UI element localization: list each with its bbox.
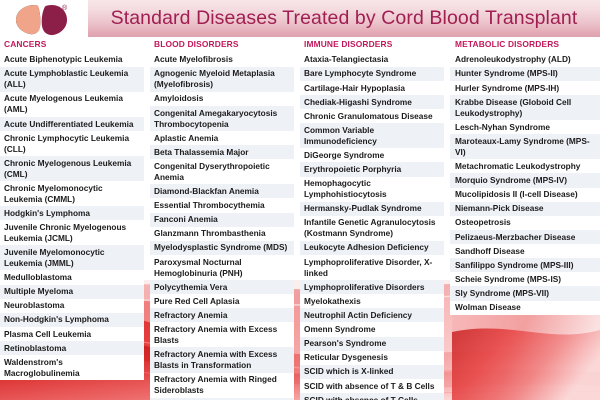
list-item: Infantile Genetic Agranulocytosis (Kostm… xyxy=(300,216,444,241)
list-item: Non-Hodgkin's Lymphoma xyxy=(0,313,144,327)
title-band: Standard Diseases Treated by Cord Blood … xyxy=(88,0,600,37)
list-item: Acute Myelogenous Leukemia (AML) xyxy=(0,92,144,117)
list-item: Chediak-Higashi Syndrome xyxy=(300,95,444,109)
list-item: Omenn Syndrome xyxy=(300,322,444,336)
list-item: Medulloblastoma xyxy=(0,270,144,284)
disease-columns: CANCERS Acute Biphenotypic Leukemia Acut… xyxy=(0,37,600,400)
list-item: Lymphoproliferative Disorder, X-linked xyxy=(300,255,444,280)
list-item: Pelizaeus-Merzbacher Disease xyxy=(450,230,600,244)
list-item: Polycythemia Vera xyxy=(150,280,294,294)
list-item: Glanzmann Thrombasthenia xyxy=(150,227,294,241)
poster-root: ® Standard Diseases Treated by Cord Bloo… xyxy=(0,0,600,400)
list-item: SCID with absence of T & B Cells xyxy=(300,379,444,393)
category-header-metabolic-disorders: METABOLIC DISORDERS xyxy=(450,37,600,53)
list-item: Chronic Granulomatous Disease xyxy=(300,109,444,123)
list-item: Chronic Lymphocytic Leukemia (CLL) xyxy=(0,131,144,156)
list-item: Multiple Myeloma xyxy=(0,285,144,299)
list-item: Neuroblastoma xyxy=(0,299,144,313)
list-item: Ataxia-Telangiectasia xyxy=(300,53,444,67)
list-item: Acute Undifferentiated Leukemia xyxy=(0,117,144,131)
registered-trademark-icon: ® xyxy=(62,5,67,12)
list-item: Morquio Syndrome (MPS-IV) xyxy=(450,173,600,187)
list-item: Myelodysplastic Syndrome (MDS) xyxy=(150,241,294,255)
list-item: Fanconi Anemia xyxy=(150,213,294,227)
list-item: SCID with absence of T Cells, Normal B C… xyxy=(300,393,444,400)
list-item: Hodgkin's Lymphoma xyxy=(0,206,144,220)
list-item: Refractory Anemia with Excess Blasts in … xyxy=(150,347,294,372)
list-item: Agnogenic Myeloid Metaplasia (Myelofibro… xyxy=(150,67,294,92)
list-item: Aplastic Anemia xyxy=(150,131,294,145)
column-blood-disorders: BLOOD DISORDERS Acute Myelofibrosis Agno… xyxy=(150,37,294,400)
column-cancers: CANCERS Acute Biphenotypic Leukemia Acut… xyxy=(0,37,144,380)
list-item: DiGeorge Syndrome xyxy=(300,148,444,162)
list-item: Plasma Cell Leukemia xyxy=(0,327,144,341)
category-header-blood-disorders: BLOOD DISORDERS xyxy=(150,37,294,53)
list-item: Wolman Disease xyxy=(450,301,600,315)
list-item: Acute Biphenotypic Leukemia xyxy=(0,53,144,67)
list-item: Chronic Myelomonocytic Leukemia (CMML) xyxy=(0,181,144,206)
list-item: Hemophagocytic Lymphohistiocytosis xyxy=(300,177,444,202)
list-item: Acute Myelofibrosis xyxy=(150,53,294,67)
disease-list-cancers: Acute Biphenotypic Leukemia Acute Lympho… xyxy=(0,53,144,381)
list-item: Amyloidosis xyxy=(150,92,294,106)
list-item: Lymphoproliferative Disorders xyxy=(300,280,444,294)
category-header-immune-disorders: IMMUNE DISORDERS xyxy=(300,37,444,53)
list-item: Refractory Anemia with Ringed Sideroblas… xyxy=(150,373,294,398)
list-item: Lesch-Nyhan Syndrome xyxy=(450,120,600,134)
list-item: Krabbe Disease (Globoid Cell Leukodystro… xyxy=(450,95,600,120)
list-item: Sanfilippo Syndrome (MPS-III) xyxy=(450,258,600,272)
disease-list-immune-disorders: Ataxia-Telangiectasia Bare Lymphocyte Sy… xyxy=(300,53,444,400)
list-item: Myelokathexis xyxy=(300,294,444,308)
list-item: Niemann-Pick Disease xyxy=(450,202,600,216)
list-item: Common Variable Immunodeficiency xyxy=(300,123,444,148)
list-item: Chronic Myelogenous Leukemia (CML) xyxy=(0,156,144,181)
list-item: Essential Thrombocythemia xyxy=(150,198,294,212)
list-item: Juvenile Myelomonocytic Leukemia (JMML) xyxy=(0,245,144,270)
list-item: Juvenile Chronic Myelogenous Leukemia (J… xyxy=(0,220,144,245)
list-item: SCID which is X-linked xyxy=(300,365,444,379)
list-item: Refractory Anemia xyxy=(150,308,294,322)
poster-header: ® Standard Diseases Treated by Cord Bloo… xyxy=(0,0,600,37)
page-title: Standard Diseases Treated by Cord Blood … xyxy=(111,9,578,29)
list-item: Hurler Syndrome (MPS-IH) xyxy=(450,81,600,95)
disease-list-metabolic-disorders: Adrenoleukodystrophy (ALD) Hunter Syndro… xyxy=(450,53,600,315)
list-item: Sly Syndrome (MPS-VII) xyxy=(450,286,600,300)
list-item: Pure Red Cell Aplasia xyxy=(150,294,294,308)
list-item: Diamond-Blackfan Anemia xyxy=(150,184,294,198)
list-item: Maroteaux-Lamy Syndrome (MPS-VI) xyxy=(450,134,600,159)
list-item: Osteopetrosis xyxy=(450,216,600,230)
list-item: Mucolipidosis II (I-cell Disease) xyxy=(450,188,600,202)
column-metabolic-disorders: METABOLIC DISORDERS Adrenoleukodystrophy… xyxy=(450,37,600,315)
disease-list-blood-disorders: Acute Myelofibrosis Agnogenic Myeloid Me… xyxy=(150,53,294,400)
list-item: Beta Thalassemia Major xyxy=(150,145,294,159)
list-item: Retinoblastoma xyxy=(0,341,144,355)
list-item: Adrenoleukodystrophy (ALD) xyxy=(450,53,600,67)
list-item: Cartilage-Hair Hypoplasia xyxy=(300,81,444,95)
list-item: Acute Lymphoblastic Leukemia (ALL) xyxy=(0,67,144,92)
heart-petals-logo-icon xyxy=(8,1,86,37)
list-item: Congenital Amegakaryocytosis Thrombocyto… xyxy=(150,106,294,131)
list-item: Neutrophil Actin Deficiency xyxy=(300,308,444,322)
list-item: Paroxysmal Nocturnal Hemoglobinuria (PNH… xyxy=(150,255,294,280)
list-item: Scheie Syndrome (MPS-IS) xyxy=(450,272,600,286)
column-immune-disorders: IMMUNE DISORDERS Ataxia-Telangiectasia B… xyxy=(300,37,444,400)
list-item: Reticular Dysgenesis xyxy=(300,351,444,365)
list-item: Pearson's Syndrome xyxy=(300,337,444,351)
list-item: Metachromatic Leukodystrophy xyxy=(450,159,600,173)
list-item: Bare Lymphocyte Syndrome xyxy=(300,67,444,81)
list-item: Erythropoietic Porphyria xyxy=(300,162,444,176)
list-item: Hermansky-Pudlak Syndrome xyxy=(300,202,444,216)
list-item: Congenital Dyserythropoietic Anemia xyxy=(150,159,294,184)
category-header-cancers: CANCERS xyxy=(0,37,144,53)
list-item: Waldenstrom's Macroglobulinemia xyxy=(0,355,144,380)
list-item: Refractory Anemia with Excess Blasts xyxy=(150,322,294,347)
list-item: Sandhoff Disease xyxy=(450,244,600,258)
list-item: Leukocyte Adhesion Deficiency xyxy=(300,241,444,255)
list-item: Hunter Syndrome (MPS-II) xyxy=(450,67,600,81)
